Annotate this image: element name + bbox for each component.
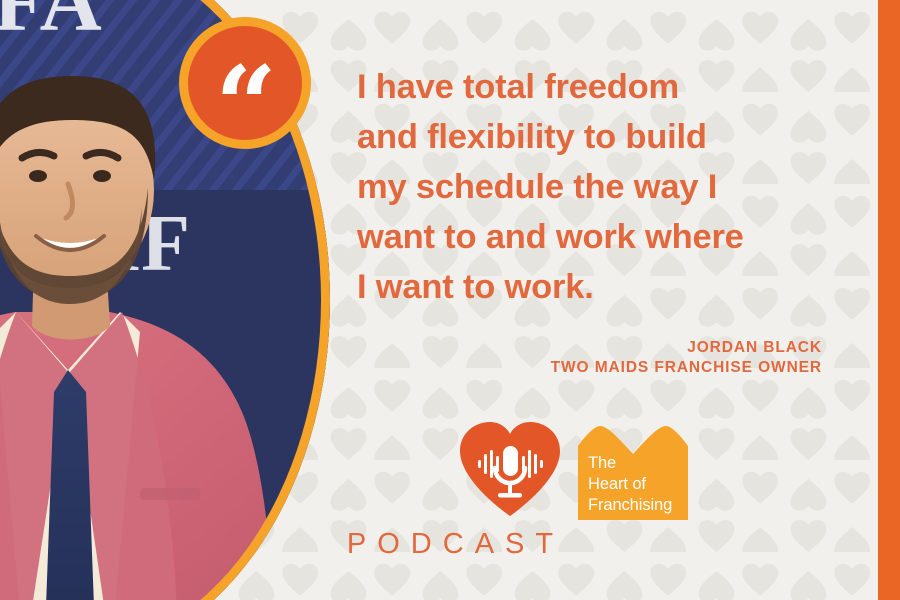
heart-microphone-icon (456, 420, 564, 520)
brand-name-shield: The Heart of Franchising (578, 420, 688, 520)
right-accent-bar (878, 0, 900, 600)
svg-text:IFA: IFA (0, 0, 102, 49)
attribution-name: JORDAN BLACK (551, 338, 822, 358)
brand-line: Franchising (588, 495, 688, 516)
quote-line: want to and work where (357, 212, 827, 262)
quote-line: I want to work. (357, 262, 827, 312)
quote-line: I have total freedom (357, 62, 827, 112)
brand-line: The (588, 453, 688, 474)
quote-text: I have total freedom and flexibility to … (357, 62, 827, 312)
quotation-mark-badge: “ (179, 17, 311, 149)
brand-logo: The Heart of Franchising (456, 420, 688, 520)
quote-card: IFA IF I (0, 0, 900, 600)
quotation-mark-icon: “ (215, 52, 275, 160)
quote-line: and flexibility to build (357, 112, 827, 162)
attribution: JORDAN BLACK TWO MAIDS FRANCHISE OWNER (551, 338, 822, 378)
attribution-role: TWO MAIDS FRANCHISE OWNER (551, 358, 822, 378)
podcast-wordmark: PODCAST (0, 528, 900, 561)
brand-line: Heart of (588, 474, 688, 495)
brand-name-text: The Heart of Franchising (588, 453, 688, 516)
quote-line: my schedule the way I (357, 162, 827, 212)
